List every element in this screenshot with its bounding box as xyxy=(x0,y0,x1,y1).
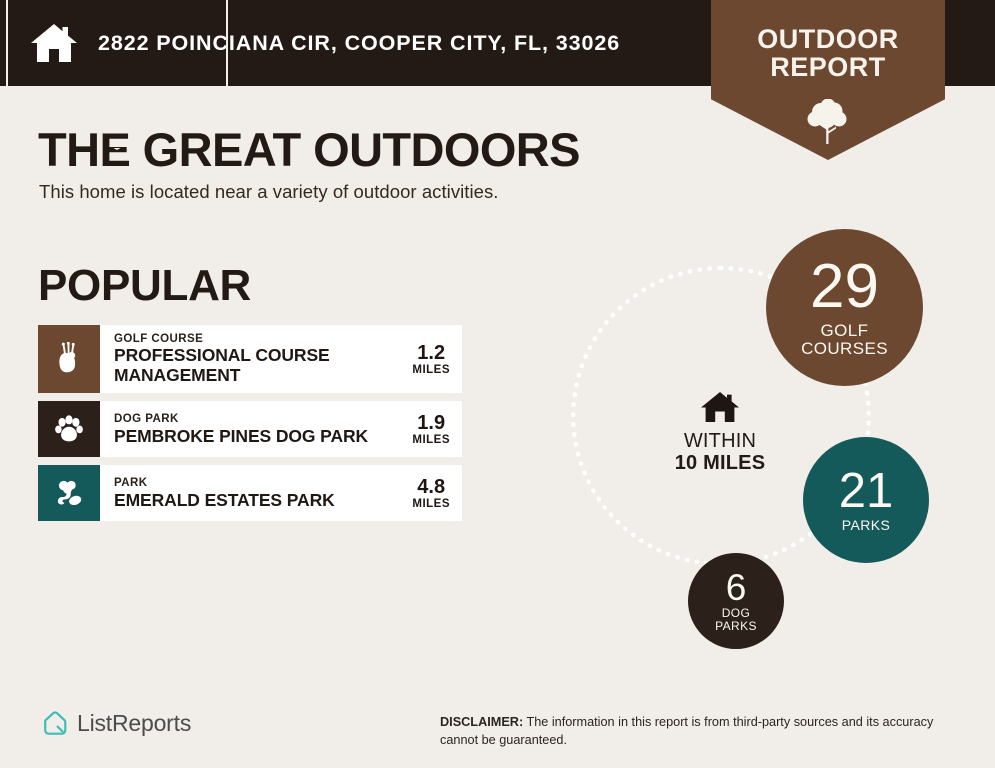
outdoor-report-page: 2822 POINCIANA CIR, COOPER CITY, FL, 330… xyxy=(0,0,995,768)
page-subtitle: This home is located near a variety of o… xyxy=(39,181,498,203)
distance-unit: MILES xyxy=(412,434,450,446)
list-item-distance: 1.2 MILES xyxy=(402,343,450,376)
list-item-category: DOG PARK xyxy=(114,412,402,427)
list-item-body: GOLF COURSE PROFESSIONAL COURSE MANAGEME… xyxy=(100,325,462,393)
listreports-logo[interactable]: ListReports xyxy=(41,710,191,737)
list-item-name-line1: PROFESSIONAL COURSE xyxy=(114,346,402,366)
page-title: THE GREAT OUTDOORS xyxy=(38,122,580,177)
list-item-name-line2: MANAGEMENT xyxy=(114,366,402,386)
within-line2: 10 MILES xyxy=(640,452,800,474)
distance-unit: MILES xyxy=(412,498,450,510)
list-item[interactable]: PARK EMERALD ESTATES PARK 4.8 MILES xyxy=(38,465,462,521)
stat-label: PARKS xyxy=(842,518,890,533)
stat-label-line1: GOLF xyxy=(801,322,888,340)
list-item-distance: 1.9 MILES xyxy=(402,413,450,446)
stat-count: 29 xyxy=(810,257,879,317)
stat-label-line2: PARKS xyxy=(715,620,757,633)
stat-label-line1: PARKS xyxy=(842,518,890,533)
list-item-name-line1: EMERALD ESTATES PARK xyxy=(114,490,402,510)
list-item-body: DOG PARK PEMBROKE PINES DOG PARK 1.9 MIL… xyxy=(100,401,462,457)
disclaimer: DISCLAIMER: The information in this repo… xyxy=(440,713,960,749)
badge-title: OUTDOOR REPORT xyxy=(711,26,945,82)
badge-title-line1: OUTDOOR xyxy=(711,26,945,54)
distance-value: 1.2 xyxy=(412,343,450,364)
stat-count: 21 xyxy=(839,468,894,515)
list-item[interactable]: DOG PARK PEMBROKE PINES DOG PARK 1.9 MIL… xyxy=(38,401,462,457)
stat-count: 6 xyxy=(726,570,747,606)
footer-divider xyxy=(0,764,995,768)
stat-bubble-parks: 21 PARKS xyxy=(803,437,929,563)
list-item-name-line1: PEMBROKE PINES DOG PARK xyxy=(114,426,402,446)
stat-label: GOLF COURSES xyxy=(801,322,888,358)
stat-label-line2: COURSES xyxy=(801,340,888,358)
list-item-body: PARK EMERALD ESTATES PARK 4.8 MILES xyxy=(100,465,462,521)
list-item[interactable]: GOLF COURSE PROFESSIONAL COURSE MANAGEME… xyxy=(38,325,462,393)
distance-value: 1.9 xyxy=(412,413,450,434)
property-address: 2822 POINCIANA CIR, COOPER CITY, FL, 330… xyxy=(98,31,620,56)
list-item-category: PARK xyxy=(114,476,402,491)
listreports-house-tag-icon xyxy=(41,710,68,737)
distance-unit: MILES xyxy=(412,364,450,376)
stat-label: DOG PARKS xyxy=(715,607,757,632)
park-tree-icon xyxy=(38,465,100,521)
tree-icon xyxy=(806,99,850,145)
within-line1: WITHIN xyxy=(640,430,800,452)
paw-print-icon xyxy=(38,401,100,457)
list-item-category: GOLF COURSE xyxy=(114,332,402,347)
golf-bag-icon xyxy=(38,325,100,393)
home-icon xyxy=(30,21,78,65)
stat-label-line1: DOG xyxy=(715,607,757,620)
home-icon xyxy=(700,390,740,424)
disclaimer-label: DISCLAIMER: xyxy=(440,715,523,729)
popular-list: GOLF COURSE PROFESSIONAL COURSE MANAGEME… xyxy=(38,325,462,529)
stat-bubble-golf-courses: 29 GOLF COURSES xyxy=(766,229,923,386)
badge-title-line2: REPORT xyxy=(711,54,945,82)
stat-bubble-dog-parks: 6 DOG PARKS xyxy=(688,553,784,649)
distance-value: 4.8 xyxy=(412,477,450,498)
list-item-distance: 4.8 MILES xyxy=(402,477,450,510)
within-radius-label: WITHIN 10 MILES xyxy=(640,390,800,475)
popular-heading: POPULAR xyxy=(38,261,251,311)
listreports-wordmark: ListReports xyxy=(77,710,191,737)
